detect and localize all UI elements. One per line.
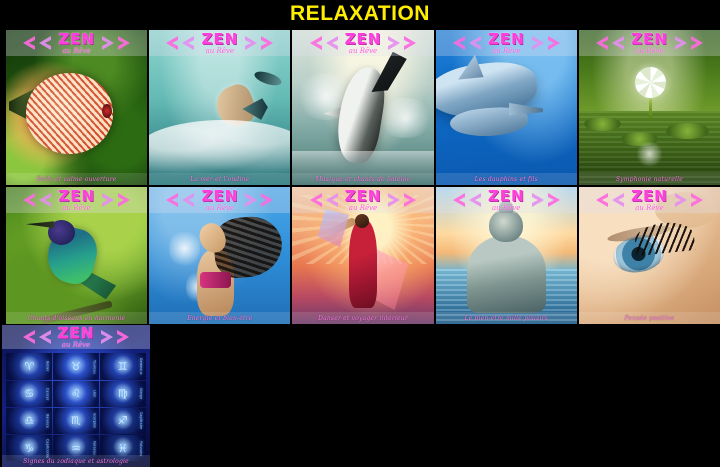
lily-reflection <box>635 142 663 167</box>
woman-figure <box>349 220 377 308</box>
zen-wordmark: ZEN au Rêve <box>484 32 529 55</box>
zen-title: ZEN <box>488 32 525 47</box>
gallery-tile-6[interactable]: ZEN au Rêve Chants d'oiseaux en harmonie <box>6 187 147 324</box>
double-chevron-right-icon <box>385 192 419 208</box>
zen-title: ZEN <box>345 32 382 47</box>
double-chevron-right-icon <box>242 35 276 51</box>
double-chevron-right-icon <box>98 329 132 345</box>
fish-body-shape <box>26 73 114 154</box>
zen-subtitle: au Rêve <box>635 48 663 55</box>
lily-pad <box>666 123 708 139</box>
zodiac-glyph-icon: ♍ <box>118 387 128 400</box>
zodiac-cell-balance: ♎Balance <box>6 408 52 434</box>
zodiac-label: Lion <box>91 382 98 406</box>
tile-caption: Belle et calme ouverture <box>6 173 147 185</box>
double-chevron-left-icon <box>163 35 197 51</box>
tile-caption: Symphonie naturelle <box>579 173 720 185</box>
gallery-tile-4[interactable]: ZEN au Rêve Les dauphins et fils <box>436 30 577 185</box>
double-chevron-left-icon <box>307 35 341 51</box>
buddha-body <box>467 236 546 313</box>
bird-beak <box>26 221 54 228</box>
double-chevron-left-icon <box>307 192 341 208</box>
zen-wordmark: ZEN au Rêve <box>484 189 529 212</box>
double-chevron-left-icon <box>20 329 54 345</box>
zodiac-glyph-icon: ♌ <box>71 387 81 400</box>
double-chevron-left-icon <box>163 192 197 208</box>
zen-banner: ZEN au Rêve <box>292 187 433 213</box>
zodiac-glyph-icon: ♊ <box>118 360 128 373</box>
zen-subtitle: au Rêve <box>492 48 520 55</box>
zodiac-label: Sagittaire <box>138 409 145 433</box>
tile-caption: Energie et bien-être <box>149 312 290 324</box>
dolphin-silhouette <box>253 69 283 88</box>
zodiac-label: Balance <box>44 409 51 433</box>
zodiac-cell-sagittaire: ♐Sagittaire <box>100 408 146 434</box>
zodiac-cell-vierge: ♍Vierge <box>100 381 146 407</box>
zodiac-cell-taureau: ♉Taureau <box>53 353 99 379</box>
zodiac-glyph-icon: ♏ <box>71 414 81 427</box>
zodiac-cell-lion: ♌Lion <box>53 381 99 407</box>
double-chevron-right-icon <box>529 192 563 208</box>
zen-title: ZEN <box>201 189 238 204</box>
double-chevron-right-icon <box>242 192 276 208</box>
gallery-tile-10[interactable]: ZEN au Rêve Pensée positive <box>579 187 720 324</box>
gallery-row: ZEN au Rêve Belle et calme ouverture <box>0 28 720 185</box>
zen-banner: ZEN au Rêve <box>6 187 147 213</box>
zen-title: ZEN <box>345 189 382 204</box>
zen-title: ZEN <box>58 32 95 47</box>
gallery-tile-2[interactable]: ZEN au Rêve La mer et l'ondine <box>149 30 290 185</box>
zen-subtitle: au Rêve <box>635 205 663 212</box>
zodiac-cell-cancer: ♋Cancer <box>6 381 52 407</box>
zen-title: ZEN <box>201 32 238 47</box>
tile-caption: Danser et voyager intérieur <box>292 312 433 324</box>
gallery-tile-1[interactable]: ZEN au Rêve Belle et calme ouverture <box>6 30 147 185</box>
double-chevron-right-icon <box>99 192 133 208</box>
zen-subtitle: au Rêve <box>206 205 234 212</box>
zodiac-label: Gemeaux <box>138 354 145 378</box>
double-chevron-left-icon <box>450 35 484 51</box>
double-chevron-left-icon <box>20 192 54 208</box>
zen-title: ZEN <box>631 189 668 204</box>
double-chevron-right-icon <box>529 35 563 51</box>
zen-subtitle: au Rêve <box>62 342 90 349</box>
gallery-tile-8[interactable]: ZEN au Rêve Danser et voyager intérieur <box>292 187 433 324</box>
double-chevron-right-icon <box>99 35 133 51</box>
zen-banner: ZEN au Rêve <box>149 30 290 56</box>
buddha-head <box>489 209 523 242</box>
gallery-tile-9[interactable]: ZEN au Rêve Le bien-être mille plaisirs <box>436 187 577 324</box>
zen-banner: ZEN au Rêve <box>436 30 577 56</box>
zodiac-glyph-icon: ♒ <box>71 442 81 455</box>
bikini-top <box>200 272 231 288</box>
lily-flower <box>635 67 666 98</box>
zodiac-label: Vierge <box>138 382 145 406</box>
zen-wordmark: ZEN au Rêve <box>54 32 99 55</box>
zen-subtitle: au Rêve <box>206 48 234 55</box>
zen-subtitle: au Rêve <box>349 205 377 212</box>
double-chevron-right-icon <box>672 192 706 208</box>
gallery-tile-3[interactable]: ZEN au Rêve Musique et chants de baleine <box>292 30 433 185</box>
tile-caption: Signes du zodiaque et astrologie <box>2 455 150 467</box>
woman-head <box>355 214 369 228</box>
zen-subtitle: au Rêve <box>62 48 90 55</box>
zodiac-label: Belier <box>44 354 51 378</box>
zen-title: ZEN <box>631 32 668 47</box>
zen-banner: ZEN au Rêve <box>436 187 577 213</box>
zen-wordmark: ZEN au Rêve <box>341 189 386 212</box>
gallery-tile-7[interactable]: ZEN au Rêve Energie et bien-être <box>149 187 290 324</box>
zen-banner: ZEN au Rêve <box>292 30 433 56</box>
zodiac-glyph-icon: ♈ <box>24 360 34 373</box>
lily-pad <box>584 117 621 131</box>
zodiac-cell-scorpion: ♏Scorpion <box>53 408 99 434</box>
gallery-tile-11[interactable]: ♈Belier♉Taureau♊Gemeaux♋Cancer♌Lion♍Vier… <box>2 325 150 467</box>
zen-wordmark: ZEN au Rêve <box>341 32 386 55</box>
zodiac-label: Scorpion <box>91 409 98 433</box>
zodiac-cell-gemeaux: ♊Gemeaux <box>100 353 146 379</box>
double-chevron-left-icon <box>450 192 484 208</box>
zen-title: ZEN <box>488 189 525 204</box>
double-chevron-right-icon <box>385 35 419 51</box>
double-chevron-left-icon <box>20 35 54 51</box>
cloud-shape <box>377 98 433 138</box>
double-chevron-left-icon <box>593 192 627 208</box>
zen-wordmark: ZEN au Rêve <box>197 32 242 55</box>
zen-wordmark: ZEN au Rêve <box>54 326 99 349</box>
page-title: RELAXATION <box>0 0 720 28</box>
zodiac-glyph-icon: ♓ <box>118 442 128 455</box>
gallery-row: ZEN au Rêve Chants d'oiseaux en harmonie <box>0 185 720 324</box>
empty-gallery-area <box>150 324 720 467</box>
zen-subtitle: au Rêve <box>62 205 90 212</box>
zodiac-label: Cancer <box>44 382 51 406</box>
zen-subtitle: au Rêve <box>349 48 377 55</box>
zodiac-cell-belier: ♈Belier <box>6 353 52 379</box>
tile-caption: Musique et chants de baleine <box>292 173 433 185</box>
zen-wordmark: ZEN au Rêve <box>54 189 99 212</box>
zen-title: ZEN <box>58 326 95 341</box>
double-chevron-left-icon <box>593 35 627 51</box>
zen-wordmark: ZEN au Rêve <box>627 32 672 55</box>
zen-wordmark: ZEN au Rêve <box>197 189 242 212</box>
zen-banner: ZEN au Rêve <box>2 325 150 349</box>
zen-subtitle: au Rêve <box>492 205 520 212</box>
tile-caption: Les dauphins et fils <box>436 173 577 185</box>
double-chevron-right-icon <box>672 35 706 51</box>
zodiac-glyph-icon: ♉ <box>71 360 81 373</box>
tile-caption: Le bien-être mille plaisirs <box>436 312 577 324</box>
zen-title: ZEN <box>58 189 95 204</box>
zen-banner: ZEN au Rêve <box>579 30 720 56</box>
gallery-row: ♈Belier♉Taureau♊Gemeaux♋Cancer♌Lion♍Vier… <box>0 324 720 467</box>
zodiac-label: Taureau <box>91 354 98 378</box>
zen-banner: ZEN au Rêve <box>6 30 147 56</box>
zodiac-glyph-icon: ♋ <box>24 387 34 400</box>
zen-wordmark: ZEN au Rêve <box>627 189 672 212</box>
zodiac-glyph-icon: ♐ <box>118 414 128 427</box>
water-splash <box>169 228 200 269</box>
tile-caption: Chants d'oiseaux en harmonie <box>6 312 147 324</box>
tile-caption: Pensée positive <box>579 312 720 324</box>
zen-banner: ZEN au Rêve <box>149 187 290 213</box>
image-gallery: ZEN au Rêve Belle et calme ouverture <box>0 28 720 466</box>
zodiac-glyph-icon: ♑ <box>24 442 34 455</box>
tile-caption: La mer et l'ondine <box>149 173 290 185</box>
gallery-tile-5[interactable]: ZEN au Rêve Symphonie naturelle <box>579 30 720 185</box>
zodiac-glyph-icon: ♎ <box>24 414 34 427</box>
zodiac-grid: ♈Belier♉Taureau♊Gemeaux♋Cancer♌Lion♍Vier… <box>6 353 145 461</box>
zen-banner: ZEN au Rêve <box>579 187 720 213</box>
